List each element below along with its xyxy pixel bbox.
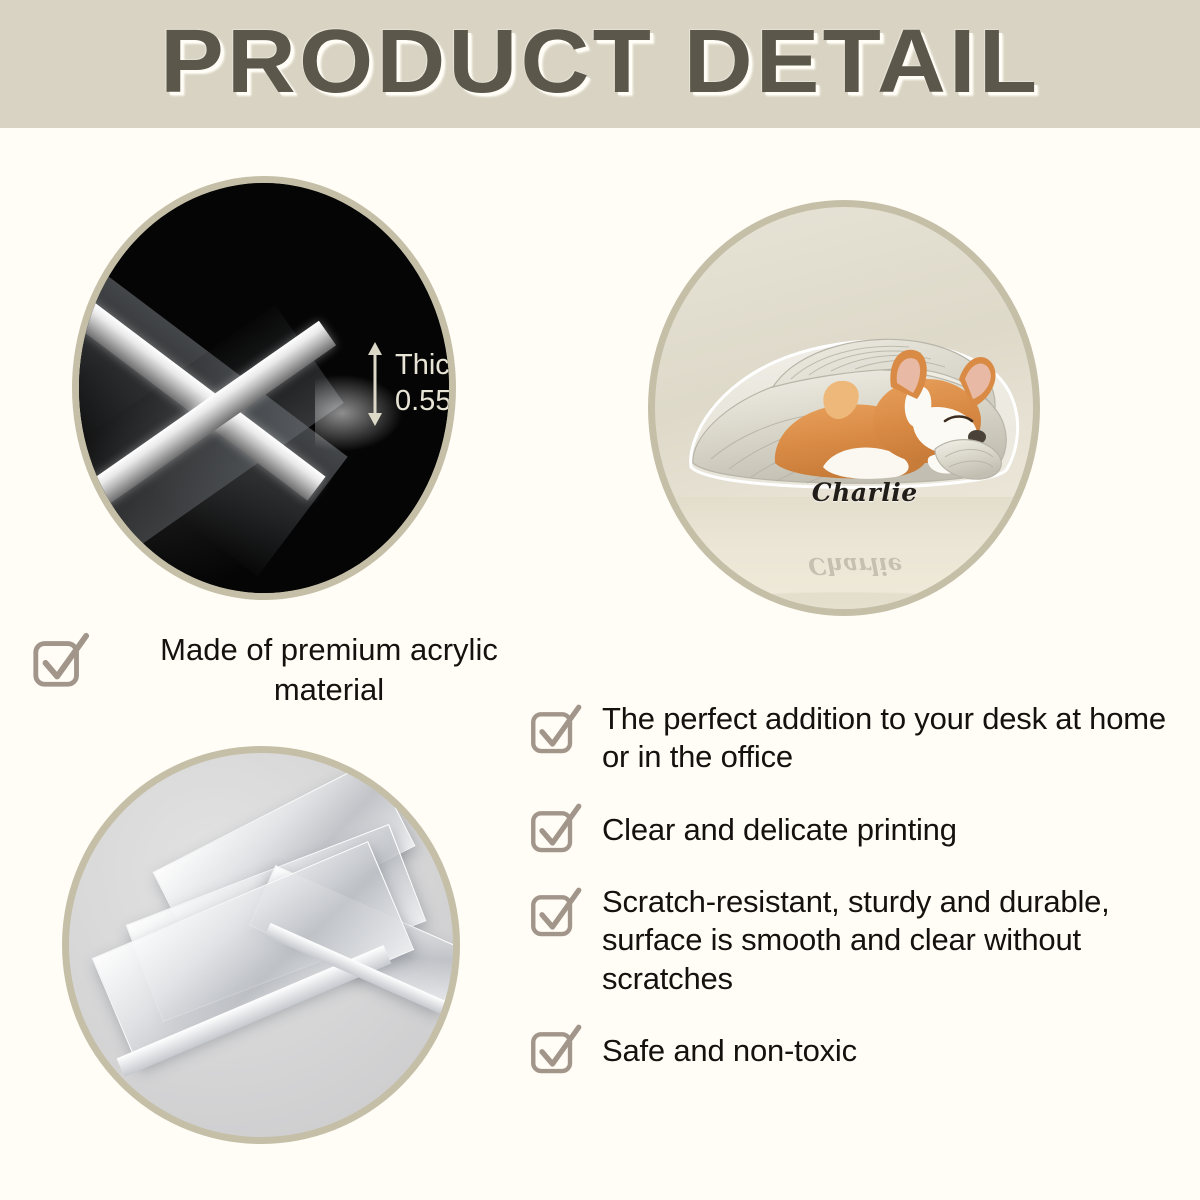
checkbox-checked-icon bbox=[528, 885, 584, 941]
list-item: Safe and non-toxic bbox=[528, 1024, 1188, 1078]
checkbox-checked-icon bbox=[528, 702, 584, 758]
list-item-label: Safe and non-toxic bbox=[602, 1024, 1188, 1070]
thickness-callout: Thickness 0.55 in bbox=[365, 341, 456, 427]
list-item-label: Scratch-resistant, sturdy and durable, s… bbox=[602, 883, 1188, 998]
thickness-label: Thickness 0.55 in bbox=[395, 348, 456, 420]
list-item: The perfect addition to your desk at hom… bbox=[528, 700, 1188, 777]
thickness-value: 0.55 in bbox=[395, 384, 456, 420]
thickness-label-line1: Thickness bbox=[395, 348, 456, 384]
header-band: PRODUCT DETAIL bbox=[0, 0, 1200, 128]
list-item-label: Clear and delicate printing bbox=[602, 803, 1188, 849]
list-item: Clear and delicate printing bbox=[528, 803, 1188, 857]
personalized-name-reflection: Charlie bbox=[808, 552, 902, 579]
acrylic-sheets-photo-circle bbox=[62, 746, 460, 1144]
personalized-name: Charlie bbox=[812, 478, 918, 507]
list-item-label: The perfect addition to your desk at hom… bbox=[602, 700, 1188, 777]
vertical-double-arrow-icon bbox=[365, 341, 385, 427]
thickness-photo-circle: Thickness 0.55 in bbox=[72, 176, 456, 600]
page-title: PRODUCT DETAIL bbox=[160, 17, 1040, 111]
feature-list: The perfect addition to your desk at hom… bbox=[528, 700, 1188, 1104]
plaque-reflection bbox=[695, 591, 995, 616]
checkbox-checked-icon bbox=[30, 630, 92, 692]
checkbox-checked-icon bbox=[528, 801, 584, 857]
list-item: Scratch-resistant, sturdy and durable, s… bbox=[528, 883, 1188, 998]
feature-primary: Made of premium acrylic material bbox=[30, 626, 550, 709]
feature-primary-label: Made of premium acrylic material bbox=[108, 626, 550, 709]
checkbox-checked-icon bbox=[528, 1022, 584, 1078]
product-photo-circle: Charlie Charlie bbox=[648, 200, 1040, 616]
product-detail-infographic: PRODUCT DETAIL Thickness 0.55 in bbox=[0, 0, 1200, 1200]
corgi-angel-acrylic-plaque: Charlie bbox=[677, 317, 1027, 513]
